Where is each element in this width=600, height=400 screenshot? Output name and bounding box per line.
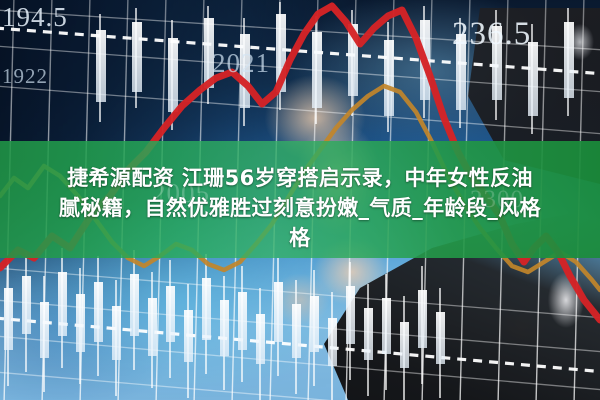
chart-value-label-top-right: 236.5 (452, 16, 531, 53)
screenshot-canvas: 194.5 1922 2021 236.5 2005 2300 捷希源配资 江珊… (0, 0, 600, 400)
chart-value-label-top-left: 194.5 (2, 2, 68, 33)
headline-line-2: 腻秘籍，自然优雅胜过刻意扮嫩_气质_年龄段_风格 (4, 193, 596, 223)
headline-line-3: 格 (4, 223, 596, 253)
headline-line-1: 捷希源配资 江珊56岁穿搭启示录，中年女性反油 (4, 163, 596, 193)
headline-overlay: 捷希源配资 江珊56岁穿搭启示录，中年女性反油 腻秘籍，自然优雅胜过刻意扮嫩_气… (0, 163, 600, 253)
chart-year-label-center: 2021 (212, 48, 270, 79)
chart-value-label-mid-left: 1922 (2, 64, 48, 89)
